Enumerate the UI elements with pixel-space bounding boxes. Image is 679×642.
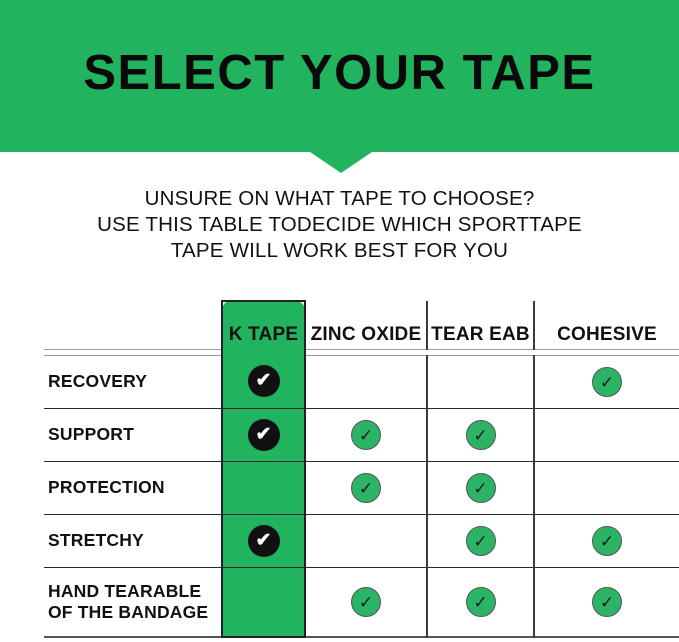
cell-stretchy-zinc-oxide[interactable] <box>305 514 427 567</box>
table-row: STRETCHY ✔ ✓ ✓ <box>44 514 679 567</box>
table-header: K TAPE ZINC OXIDE TEAR EAB COHESIVE <box>44 301 679 355</box>
check-icon: ✓ <box>466 420 496 450</box>
column-header-k-tape[interactable]: K TAPE <box>222 301 305 349</box>
tape-comparison-table-wrapper: K TAPE ZINC OXIDE TEAR EAB COHESIVE RECO… <box>44 300 679 629</box>
row-label-line-1: PROTECTION <box>48 477 165 497</box>
check-icon: ✔ <box>248 525 280 557</box>
cell-support-cohesive[interactable] <box>534 408 679 461</box>
cell-support-zinc-oxide[interactable]: ✓ <box>305 408 427 461</box>
cell-protection-tear-eab[interactable]: ✓ <box>427 461 534 514</box>
cell-support-tear-eab[interactable]: ✓ <box>427 408 534 461</box>
table-bottom-rule-k-tape <box>222 637 305 642</box>
table-row: RECOVERY ✔ ✓ <box>44 355 679 408</box>
tape-comparison-table: K TAPE ZINC OXIDE TEAR EAB COHESIVE RECO… <box>44 300 679 642</box>
row-label-support: SUPPORT <box>44 408 222 461</box>
row-label-stretchy: STRETCHY <box>44 514 222 567</box>
table-row: HAND TEARABLE OF THE BANDAGE ✓ ✓ ✓ <box>44 567 679 637</box>
row-label-line-1: SUPPORT <box>48 424 134 444</box>
table-bottom-rule-row <box>44 637 679 642</box>
cell-stretchy-cohesive[interactable]: ✓ <box>534 514 679 567</box>
subtitle-block: UNSURE ON WHAT TAPE TO CHOOSE? USE THIS … <box>0 186 679 264</box>
check-icon: ✔ <box>248 419 280 451</box>
cell-hand-tearable-k-tape[interactable] <box>222 567 305 637</box>
table-bottom-rule-zinc <box>305 637 427 642</box>
check-icon: ✔ <box>248 365 280 397</box>
table-bottom-rule-tear <box>427 637 534 642</box>
check-icon: ✓ <box>351 473 381 503</box>
check-icon: ✓ <box>592 367 622 397</box>
table-row: SUPPORT ✔ ✓ ✓ <box>44 408 679 461</box>
column-header-tear-eab[interactable]: TEAR EAB <box>427 301 534 349</box>
column-header-cohesive[interactable]: COHESIVE <box>534 301 679 349</box>
cell-support-k-tape[interactable]: ✔ <box>222 408 305 461</box>
table-row: PROTECTION ✓ ✓ <box>44 461 679 514</box>
table-corner-cell <box>44 301 222 349</box>
cell-recovery-cohesive[interactable]: ✓ <box>534 355 679 408</box>
cell-protection-cohesive[interactable] <box>534 461 679 514</box>
subtitle-line-2: USE THIS TABLE TODECIDE WHICH SPORTTAPE <box>0 212 679 238</box>
check-icon: ✓ <box>466 526 496 556</box>
row-label-line-2: OF THE BANDAGE <box>48 602 208 622</box>
row-label-line-1: STRETCHY <box>48 530 144 550</box>
row-label-line-1: HAND TEARABLE <box>48 581 201 601</box>
table-header-row: K TAPE ZINC OXIDE TEAR EAB COHESIVE <box>44 301 679 349</box>
subtitle-line-3: TAPE WILL WORK BEST FOR YOU <box>0 238 679 264</box>
check-icon: ✓ <box>466 473 496 503</box>
row-label-protection: PROTECTION <box>44 461 222 514</box>
cell-stretchy-k-tape[interactable]: ✔ <box>222 514 305 567</box>
cell-hand-tearable-cohesive[interactable]: ✓ <box>534 567 679 637</box>
page-title: SELECT YOUR TAPE <box>0 0 679 152</box>
cell-protection-zinc-oxide[interactable]: ✓ <box>305 461 427 514</box>
header-banner: SELECT YOUR TAPE <box>0 0 679 152</box>
table-body: RECOVERY ✔ ✓ SUPPORT <box>44 355 679 642</box>
cell-hand-tearable-zinc-oxide[interactable]: ✓ <box>305 567 427 637</box>
row-label-hand-tearable: HAND TEARABLE OF THE BANDAGE <box>44 567 222 637</box>
cell-recovery-k-tape[interactable]: ✔ <box>222 355 305 408</box>
row-label-recovery: RECOVERY <box>44 355 222 408</box>
cell-recovery-zinc-oxide[interactable] <box>305 355 427 408</box>
cell-hand-tearable-tear-eab[interactable]: ✓ <box>427 567 534 637</box>
subtitle-line-1: UNSURE ON WHAT TAPE TO CHOOSE? <box>0 186 679 212</box>
cell-stretchy-tear-eab[interactable]: ✓ <box>427 514 534 567</box>
table-bottom-rule-cohesive <box>534 637 679 642</box>
column-header-zinc-oxide[interactable]: ZINC OXIDE <box>305 301 427 349</box>
banner-pointer-triangle <box>310 152 372 173</box>
row-label-line-1: RECOVERY <box>48 371 147 391</box>
check-icon: ✓ <box>351 420 381 450</box>
cell-protection-k-tape[interactable] <box>222 461 305 514</box>
check-icon: ✓ <box>592 526 622 556</box>
check-icon: ✓ <box>466 587 496 617</box>
check-icon: ✓ <box>351 587 381 617</box>
cell-recovery-tear-eab[interactable] <box>427 355 534 408</box>
table-bottom-rule-label <box>44 637 222 642</box>
check-icon: ✓ <box>592 587 622 617</box>
